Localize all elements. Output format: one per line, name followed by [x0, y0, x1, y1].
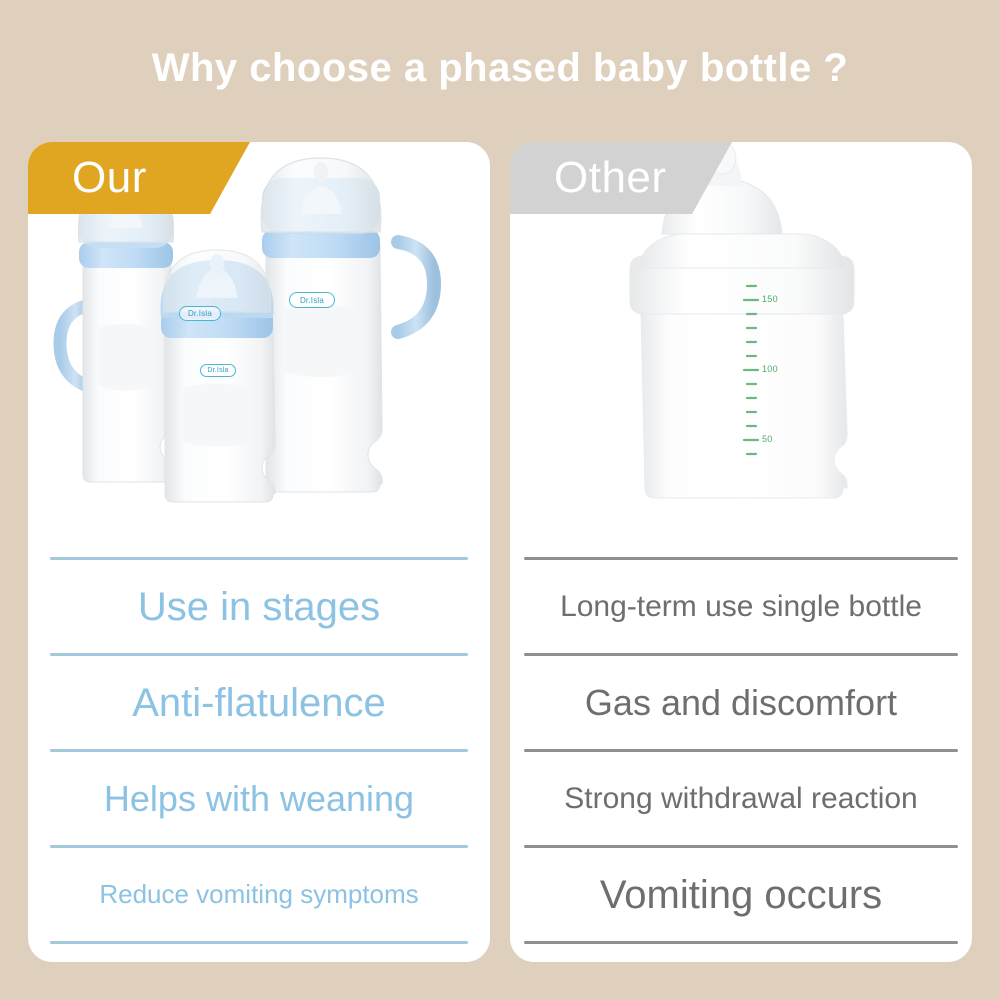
card-other: Other — [510, 142, 972, 962]
scale-label-100: 100 — [762, 364, 778, 374]
feature-list-our: Use in stages Anti-flatulence Helps with… — [28, 557, 490, 962]
feature-label: Anti-flatulence — [132, 681, 385, 725]
feature-label: Strong withdrawal reaction — [564, 782, 918, 815]
scale-label-50: 50 — [762, 434, 773, 444]
feature-row[interactable]: Long-term use single bottle — [524, 560, 958, 653]
scale-label-150: 150 — [762, 294, 778, 304]
bottle-right — [261, 158, 434, 492]
card-our: Our — [28, 142, 490, 962]
comparison-cards: Our — [28, 142, 972, 962]
feature-row[interactable]: Use in stages — [50, 560, 468, 653]
feature-label: Long-term use single bottle — [560, 590, 922, 623]
feature-label: Use in stages — [138, 585, 380, 629]
feature-label: Helps with weaning — [104, 779, 414, 819]
tab-our-label: Our — [72, 156, 147, 200]
feature-list-other: Long-term use single bottle Gas and disc… — [510, 557, 972, 962]
feature-row[interactable]: Anti-flatulence — [50, 656, 468, 749]
page-title: Why choose a phased baby bottle ? — [0, 44, 1000, 92]
feature-label: Gas and discomfort — [585, 683, 897, 723]
feature-row[interactable]: Helps with weaning — [50, 752, 468, 845]
brand-label-left: Dr.Isla — [179, 306, 221, 321]
feature-label: Reduce vomiting symptoms — [99, 880, 418, 909]
feature-row[interactable]: Reduce vomiting symptoms — [50, 848, 468, 941]
tab-other-label: Other — [554, 156, 667, 200]
feature-row[interactable]: Vomiting occurs — [524, 848, 958, 941]
brand-label-center: Dr.Isla — [200, 364, 236, 377]
feature-row[interactable]: Strong withdrawal reaction — [524, 752, 958, 845]
brand-label-right: Dr.Isla — [289, 292, 335, 308]
bottle-left — [60, 180, 174, 482]
feature-label: Vomiting occurs — [600, 873, 882, 917]
feature-row[interactable]: Gas and discomfort — [524, 656, 958, 749]
